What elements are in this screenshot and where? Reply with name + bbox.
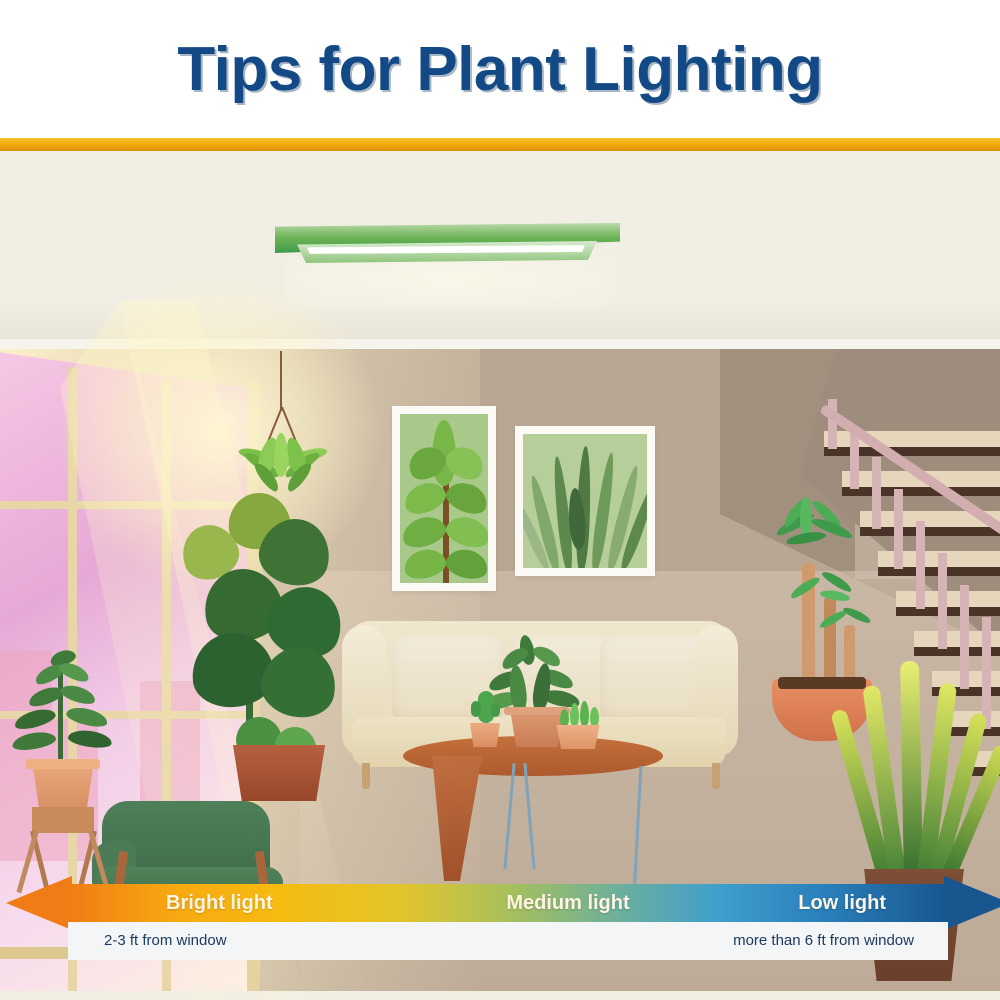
succulent-leaf [590,707,599,727]
stair-baluster [916,521,925,609]
sofa-leg [362,763,370,789]
stair-riser [896,607,1000,616]
art-leaf [443,512,488,552]
zz-plant-pot-rim [26,759,100,769]
tabletop-cactus [470,691,500,725]
zz-plant-stand [10,641,120,871]
zz-stand-leaf [11,729,57,752]
infographic-page: Tips for Plant Lighting [0,0,1000,1000]
legend-caption-panel: 2-3 ft from window more than 6 ft from w… [68,922,948,960]
tabletop-cactus-pot [468,723,502,747]
art-leaf [401,545,449,582]
wall-art-right-canvas [523,434,647,568]
sofa-leg [712,763,720,789]
succulent-leaf [570,703,579,727]
header-divider-rule [0,138,1000,151]
header-banner: Tips for Plant Lighting [0,0,1000,138]
light-level-legend: Bright light Medium light Low light 2-3 … [0,884,1000,964]
legend-caption-low: more than 6 ft from window [733,922,914,960]
stair-tread [896,591,1000,607]
succulent-leaf [580,701,589,727]
yucca-blade [842,605,872,625]
zz-stand-leaf [65,704,110,730]
legend-gradient-bar: Bright light Medium light Low light [68,884,948,922]
baseboard [0,991,1000,1000]
hanging-spider-plant [236,407,328,493]
ceiling-grow-light [275,223,620,271]
legend-label-low: Low light [798,884,886,922]
wall-art-left [392,406,496,591]
spider-plant-frond [274,433,288,477]
zz-stand-leaf [67,728,113,750]
tabletop-succulent-pot [554,725,602,749]
yucca-blade [785,530,826,547]
legend-arrow-left-icon [6,876,72,930]
tabletop-succulent [558,699,602,727]
monstera-leaf [256,640,343,724]
yucca-blade [800,497,812,537]
art-leaf [443,545,488,582]
wall-art-left-canvas [400,414,488,583]
zz-stand-leaf [13,706,58,733]
art-leaf [400,512,449,552]
succulent-leaf [560,709,569,727]
living-room-scene [0,151,1000,1000]
monstera-pot [230,745,328,801]
snake-plant [850,651,990,891]
stair-riser [842,487,1000,496]
page-title: Tips for Plant Lighting [177,34,822,105]
zz-stand-leaf [59,682,98,707]
legend-caption-bright: 2-3 ft from window [104,922,227,960]
hanging-plant-cord [280,351,282,411]
wall-art-right [515,426,655,576]
zz-plant-pot [30,765,96,809]
stair-baluster [938,553,947,649]
